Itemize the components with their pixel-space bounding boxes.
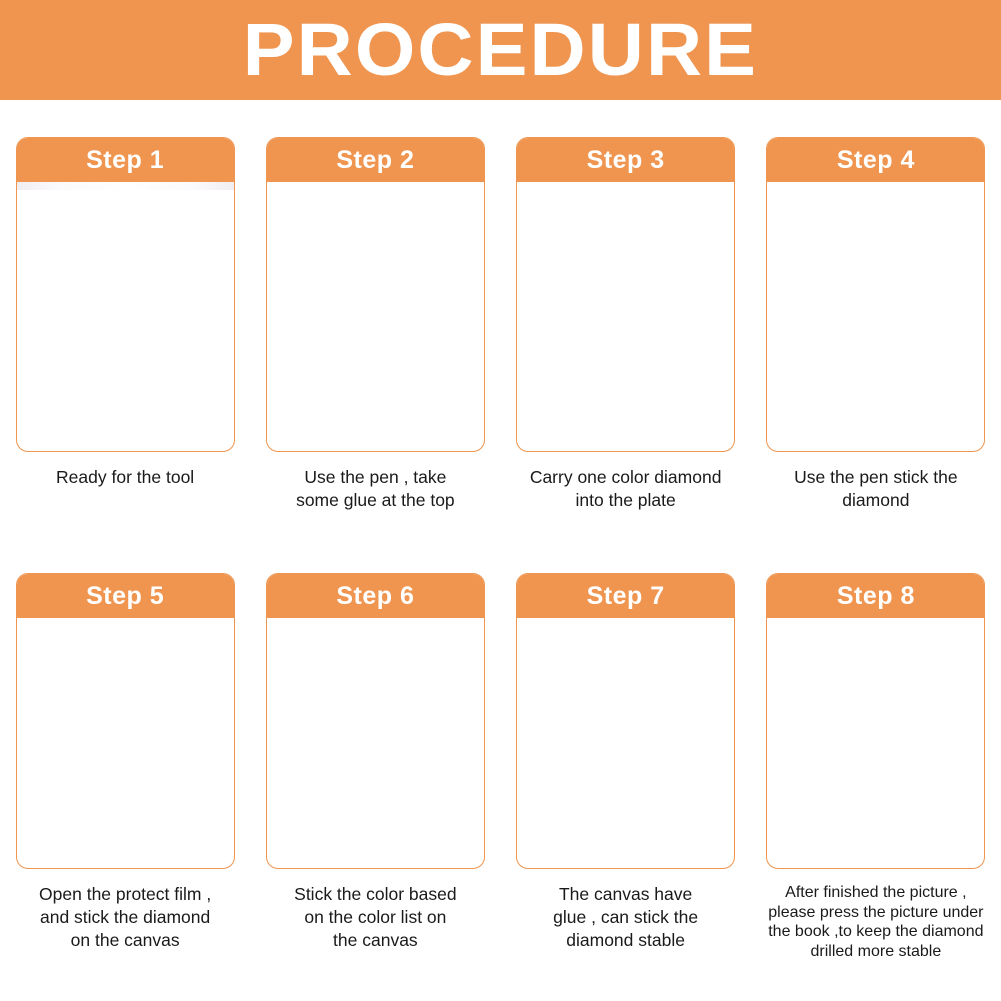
- step-6-caption: Stick the color based on the color list …: [257, 883, 493, 952]
- step-cell-7: Step 7 The canvas have glue , can stick …: [501, 573, 751, 961]
- step-7-caption: The canvas have glue , can stick the dia…: [508, 883, 744, 952]
- step-1-image: [17, 182, 234, 190]
- step-1-header: Step 1: [17, 138, 234, 182]
- step-5-badge: Step 5: [86, 582, 164, 611]
- step-7-header: Step 7: [517, 574, 734, 618]
- step-cell-5: Step 5 Open the protect film , and stick…: [0, 573, 250, 961]
- step-card-7[interactable]: Step 7: [516, 573, 735, 869]
- page-title: PROCEDURE: [243, 13, 758, 87]
- step-card-5[interactable]: Step 5: [16, 573, 235, 869]
- step-card-8[interactable]: Step 8: [766, 573, 985, 869]
- step-cell-2: Step 2 U: [250, 137, 500, 512]
- step-4-badge: Step 4: [837, 146, 915, 175]
- step-8-badge: Step 8: [837, 582, 915, 611]
- step-4-header: Step 4: [767, 138, 984, 182]
- step-card-6[interactable]: Step 6 Serial No.SymbolDMC12130032307433…: [266, 573, 485, 869]
- step-8-header: Step 8: [767, 574, 984, 618]
- step-2-badge: Step 2: [336, 146, 414, 175]
- step-cell-1: Step 1 Ready for the tool: [0, 137, 250, 512]
- step-5-caption: Open the protect film , and stick the di…: [7, 883, 243, 952]
- step-card-3[interactable]: Step 3: [516, 137, 735, 452]
- step-3-caption: Carry one color diamond into the plate: [508, 466, 744, 512]
- step-card-1[interactable]: Step 1: [16, 137, 235, 452]
- step-1-badge: Step 1: [86, 146, 164, 175]
- step-6-header: Step 6: [267, 574, 484, 618]
- step-6-badge: Step 6: [336, 582, 414, 611]
- step-2-header: Step 2: [267, 138, 484, 182]
- steps-row-top: Step 1 Ready for the tool: [0, 137, 1001, 512]
- step-card-4[interactable]: Step 4: [766, 137, 985, 452]
- steps-row-bottom: Step 5 Open the protect film , and stick…: [0, 573, 1001, 961]
- step-cell-6: Step 6 Serial No.SymbolDMC12130032307433…: [250, 573, 500, 961]
- procedure-page: PROCEDURE Step 1: [0, 0, 1001, 1001]
- step-cell-4: Step 4 Use the pen stick the diamo: [751, 137, 1001, 512]
- backdrop: [17, 182, 234, 190]
- step-1-caption: Ready for the tool: [7, 466, 243, 489]
- step-7-badge: Step 7: [587, 582, 665, 611]
- step-2-caption: Use the pen , take some glue at the top: [257, 466, 493, 512]
- step-5-header: Step 5: [17, 574, 234, 618]
- step-4-caption: Use the pen stick the diamond: [758, 466, 994, 512]
- step-cell-8: Step 8 After finished the picture , plea…: [751, 573, 1001, 961]
- step-card-2[interactable]: Step 2: [266, 137, 485, 452]
- step-3-badge: Step 3: [587, 146, 665, 175]
- page-header-banner: PROCEDURE: [0, 0, 1001, 100]
- step-cell-3: Step 3 Carry one color diamond int: [501, 137, 751, 512]
- step-3-header: Step 3: [517, 138, 734, 182]
